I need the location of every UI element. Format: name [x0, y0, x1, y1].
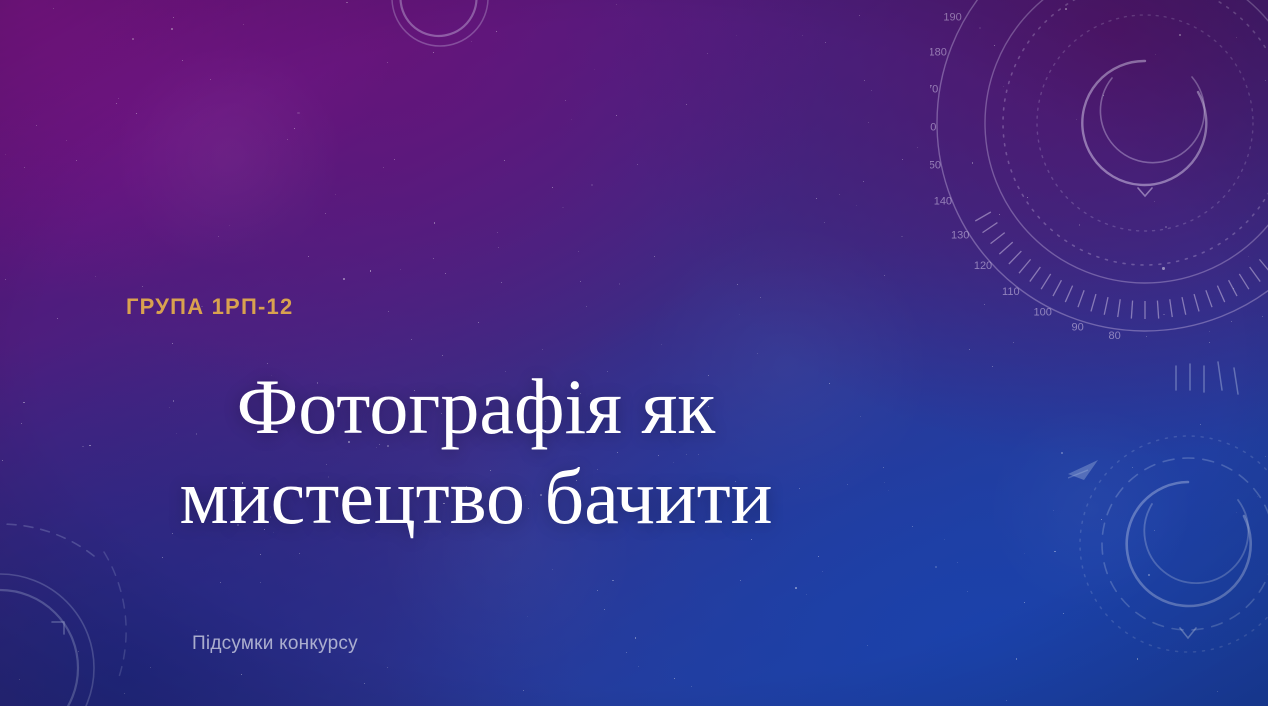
svg-text:170: 170 — [930, 84, 938, 96]
compass-dial-icon: 200 190 180 170 160 150 140 130 120 110 … — [930, 0, 1268, 358]
svg-text:90: 90 — [1072, 321, 1084, 333]
svg-text:160: 160 — [930, 122, 936, 134]
slide-subtitle: Підсумки конкурсу — [192, 633, 358, 655]
svg-text:120: 120 — [974, 260, 992, 272]
circular-arcs-arrow-icon — [0, 522, 164, 706]
svg-text:110: 110 — [1002, 286, 1020, 298]
svg-text:150: 150 — [930, 159, 941, 171]
svg-text:190: 190 — [943, 12, 961, 24]
group-label: ГРУПА 1РП-12 — [126, 296, 826, 318]
slide-text-block: ГРУПА 1РП-12 Фотографія як мистецтво бач… — [126, 296, 826, 543]
circular-arcs-dashed-icon — [1068, 404, 1268, 664]
svg-text:130: 130 — [951, 230, 969, 242]
svg-text:100: 100 — [1033, 306, 1051, 318]
page-title: Фотографія як мистецтво бачити — [126, 362, 826, 543]
small-circle-arc-icon — [372, 0, 508, 66]
svg-text:80: 80 — [1109, 330, 1121, 342]
dial-degree-labels: 200 190 180 170 160 150 140 130 120 110 … — [930, 0, 1121, 342]
tick-marks-group-icon — [1170, 360, 1246, 406]
title-slide: 200 190 180 170 160 150 140 130 120 110 … — [0, 0, 1268, 706]
svg-text:180: 180 — [930, 47, 947, 59]
svg-text:140: 140 — [934, 196, 952, 208]
